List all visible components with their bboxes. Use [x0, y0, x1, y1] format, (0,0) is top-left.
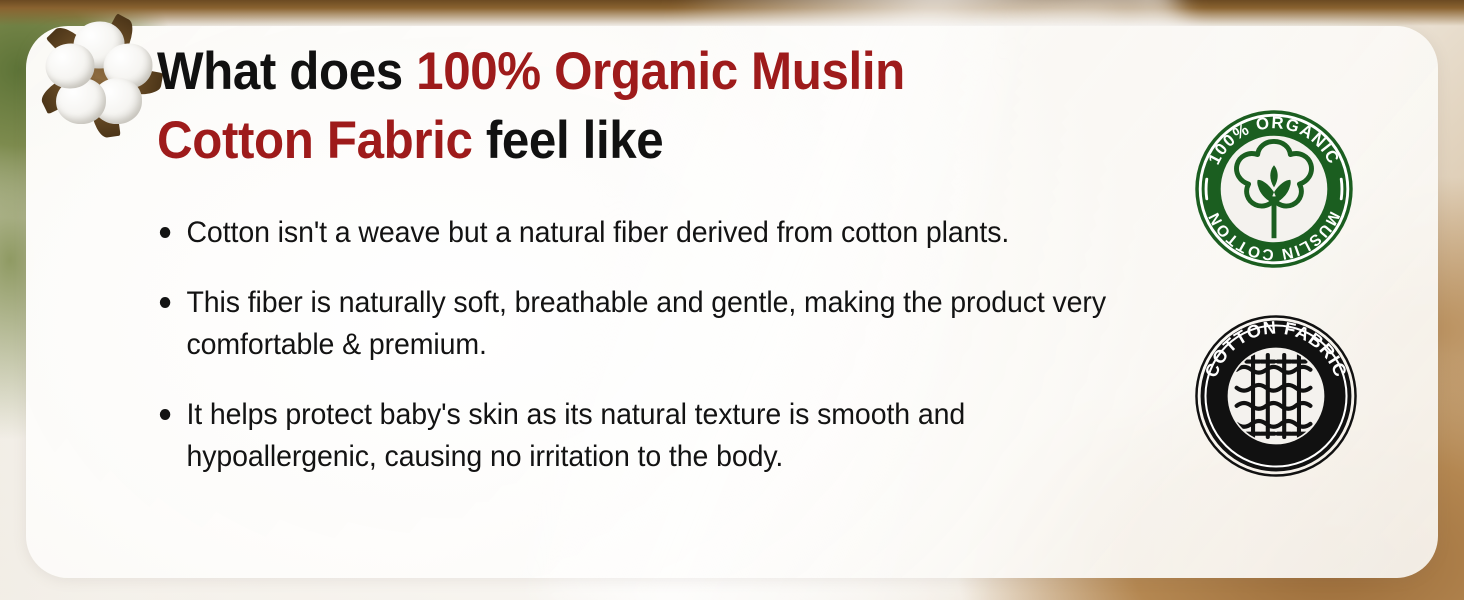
page-title: What does 100% Organic Muslin Cotton Fab… — [157, 38, 1087, 176]
bullet-text: It helps protect baby's skin as its natu… — [186, 394, 1107, 478]
organic-badge-dash-left — [1206, 179, 1207, 199]
headline-red-1: 100% Organic Muslin — [416, 42, 905, 101]
headline-black-2: feel like — [473, 111, 664, 170]
cotton-boll-photo-icon — [36, 12, 162, 138]
bullet-text: This fiber is naturally soft, breathable… — [186, 282, 1107, 366]
bullet-dot-icon — [160, 297, 170, 308]
bullet-dot-icon — [160, 227, 170, 238]
list-item: Cotton isn't a weave but a natural fiber… — [157, 212, 1107, 254]
list-item: It helps protect baby's skin as its natu… — [157, 394, 1107, 478]
banner-content: What does 100% Organic Muslin Cotton Fab… — [157, 38, 1157, 478]
cotton-fabric-badge: COTTON FABRIC — [1194, 308, 1358, 484]
cotton-boll-center — [89, 65, 109, 85]
headline-red-2: Cotton Fabric — [157, 111, 473, 170]
list-item: This fiber is naturally soft, breathable… — [157, 282, 1107, 366]
headline-black-1: What does — [157, 42, 416, 101]
feature-bullet-list: Cotton isn't a weave but a natural fiber… — [157, 212, 1157, 478]
bullet-text: Cotton isn't a weave but a natural fiber… — [186, 212, 1107, 254]
headline-line-1: What does 100% Organic Muslin — [157, 38, 1087, 107]
organic-badge: 100% ORGANIC MUSLIN COTTON — [1192, 101, 1356, 277]
cotton-boll-stem — [1272, 197, 1277, 238]
promo-banner: What does 100% Organic Muslin Cotton Fab… — [0, 0, 1464, 600]
bullet-dot-icon — [160, 409, 170, 420]
organic-badge-dash-right — [1341, 179, 1342, 199]
headline-line-2: Cotton Fabric feel like — [157, 107, 1087, 176]
